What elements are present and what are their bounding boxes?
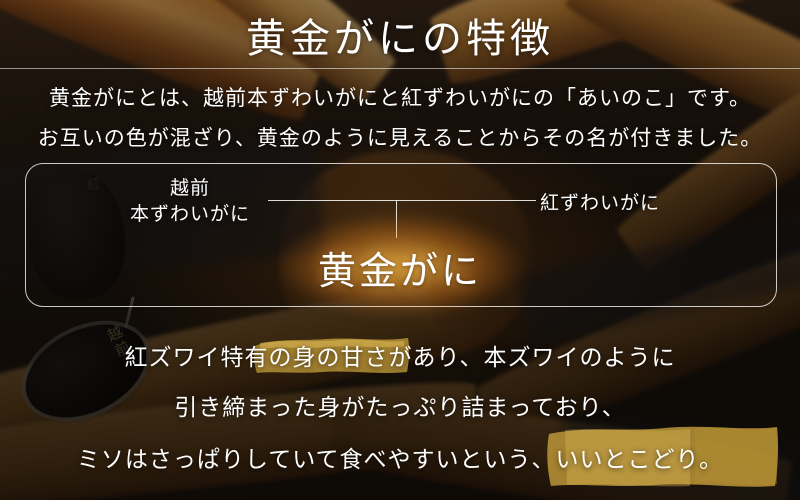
- lead-paragraph-line-1: 黄金がにとは、越前本ずわいがにと紅ずわいがにの「あいのこ」です。: [0, 82, 800, 112]
- diagram-left-label-line-2: 本ずわいがに: [110, 202, 270, 228]
- promo-panel: 紅 越前 黄金がにの特徴 黄金がにとは、越前本ずわいがにと紅ずわいがにの「あいの…: [0, 0, 800, 500]
- body-paragraph-line-2: 引き締まった身がたっぷり詰まっており、: [0, 388, 800, 422]
- diagram-center-label: 黄金がに: [0, 240, 800, 295]
- diagram-vertical-connector: [396, 200, 397, 238]
- content-layer: 黄金がにの特徴 黄金がにとは、越前本ずわいがにと紅ずわいがにの「あいのこ」です。…: [0, 0, 800, 500]
- title-divider: [0, 68, 800, 69]
- page-title: 黄金がにの特徴: [0, 6, 800, 64]
- body-paragraph-line-1: 紅ズワイ特有の身の甘さがあり、本ズワイのように: [0, 338, 800, 372]
- diagram-left-label-line-1: 越前: [110, 176, 270, 202]
- lead-paragraph-line-2: お互いの色が混ざり、黄金のように見えることからその名が付きました。: [0, 122, 800, 152]
- diagram-horizontal-connector: [268, 200, 536, 201]
- diagram-right-label: 紅ずわいがに: [540, 188, 660, 215]
- body-paragraph-line-3: ミソはさっぱりしていて食べやすいという、いいとこどり。: [0, 440, 800, 474]
- diagram-left-label: 越前 本ずわいがに: [110, 176, 270, 227]
